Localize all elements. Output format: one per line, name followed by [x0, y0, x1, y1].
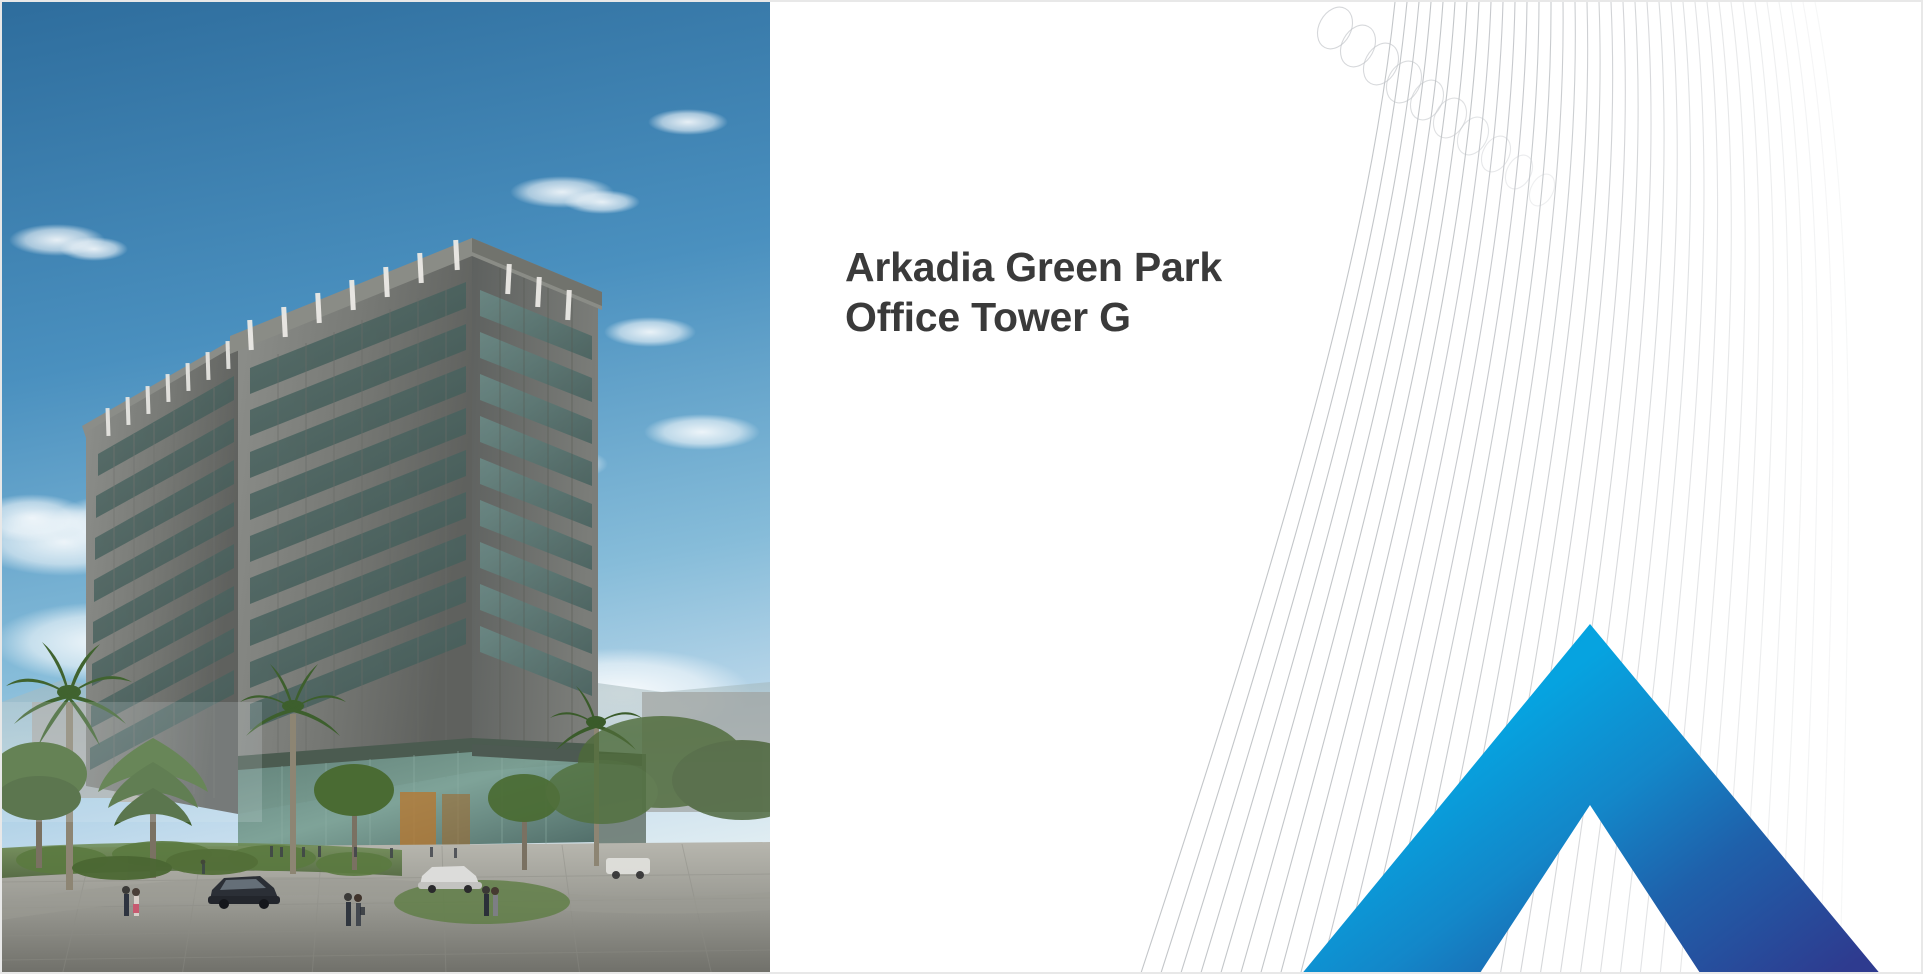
content-panel: Arkadia Green Park Office Tower G	[770, 2, 1921, 972]
chevron-logo	[770, 2, 1921, 972]
curved-line-swoosh-decoration	[770, 2, 1921, 972]
title-block: Arkadia Green Park Office Tower G	[845, 242, 1405, 342]
building-rendering-image	[2, 2, 770, 974]
building-rendering-graphic	[2, 2, 770, 974]
presentation-slide: Arkadia Green Park Office Tower G	[0, 0, 1923, 974]
page-title: Arkadia Green Park Office Tower G	[845, 242, 1405, 342]
